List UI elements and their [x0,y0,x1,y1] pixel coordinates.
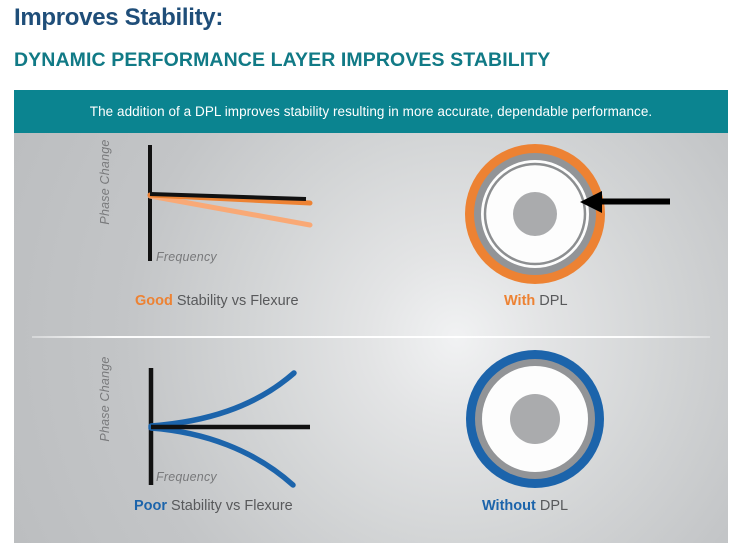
cable-center-conductor [510,394,560,444]
panel-row-good-with-dpl: Phase Change Frequency Good Stability vs… [14,133,728,338]
x-axis-label: Frequency [156,250,217,264]
flexure-curve-up [151,373,294,426]
caption-with-dpl: With DPL [504,293,568,309]
arrow-head [580,191,602,213]
graph-good-stability: Phase Change Frequency [94,141,334,291]
cable-center-conductor [513,192,557,236]
arrow-left-icon [580,190,670,214]
caption-without-highlight: Without [482,498,536,514]
graph-good-stability-svg [94,141,334,291]
arrow-shaft [600,199,670,205]
cable-without-dpl-svg [460,344,610,494]
caption-without-rest: DPL [536,498,568,514]
y-axis-label: Phase Change [98,133,112,237]
dpl-pointer-arrow [580,190,670,214]
slide-root: Improves Stability: DYNAMIC PERFORMANCE … [0,0,742,560]
graph-poor-stability: Phase Change Frequency [94,346,334,496]
caption-poor-stability: Poor Stability vs Flexure [134,498,293,514]
callout-banner: The addition of a DPL improves stability… [14,90,728,133]
page-title: Improves Stability: [14,3,223,33]
y-axis-label: Phase Change [98,344,112,454]
x-axis-label: Frequency [156,470,217,484]
caption-poor-rest: Stability vs Flexure [167,498,293,514]
caption-good-rest: Stability vs Flexure [173,293,299,309]
caption-with-highlight: With [504,293,535,309]
caption-without-dpl: Without DPL [482,498,568,514]
panel-row-poor-without-dpl: Phase Change Frequency Poor Stability vs… [14,338,728,543]
caption-good-highlight: Good [135,293,173,309]
section-title: DYNAMIC PERFORMANCE LAYER IMPROVES STABI… [14,48,550,72]
caption-good-stability: Good Stability vs Flexure [135,293,299,309]
diagram-panel: Phase Change Frequency Good Stability vs… [14,133,728,543]
callout-banner-text: The addition of a DPL improves stability… [90,104,652,119]
caption-poor-highlight: Poor [134,498,167,514]
caption-with-rest: DPL [535,293,567,309]
cable-cross-section-without-dpl [460,344,610,494]
